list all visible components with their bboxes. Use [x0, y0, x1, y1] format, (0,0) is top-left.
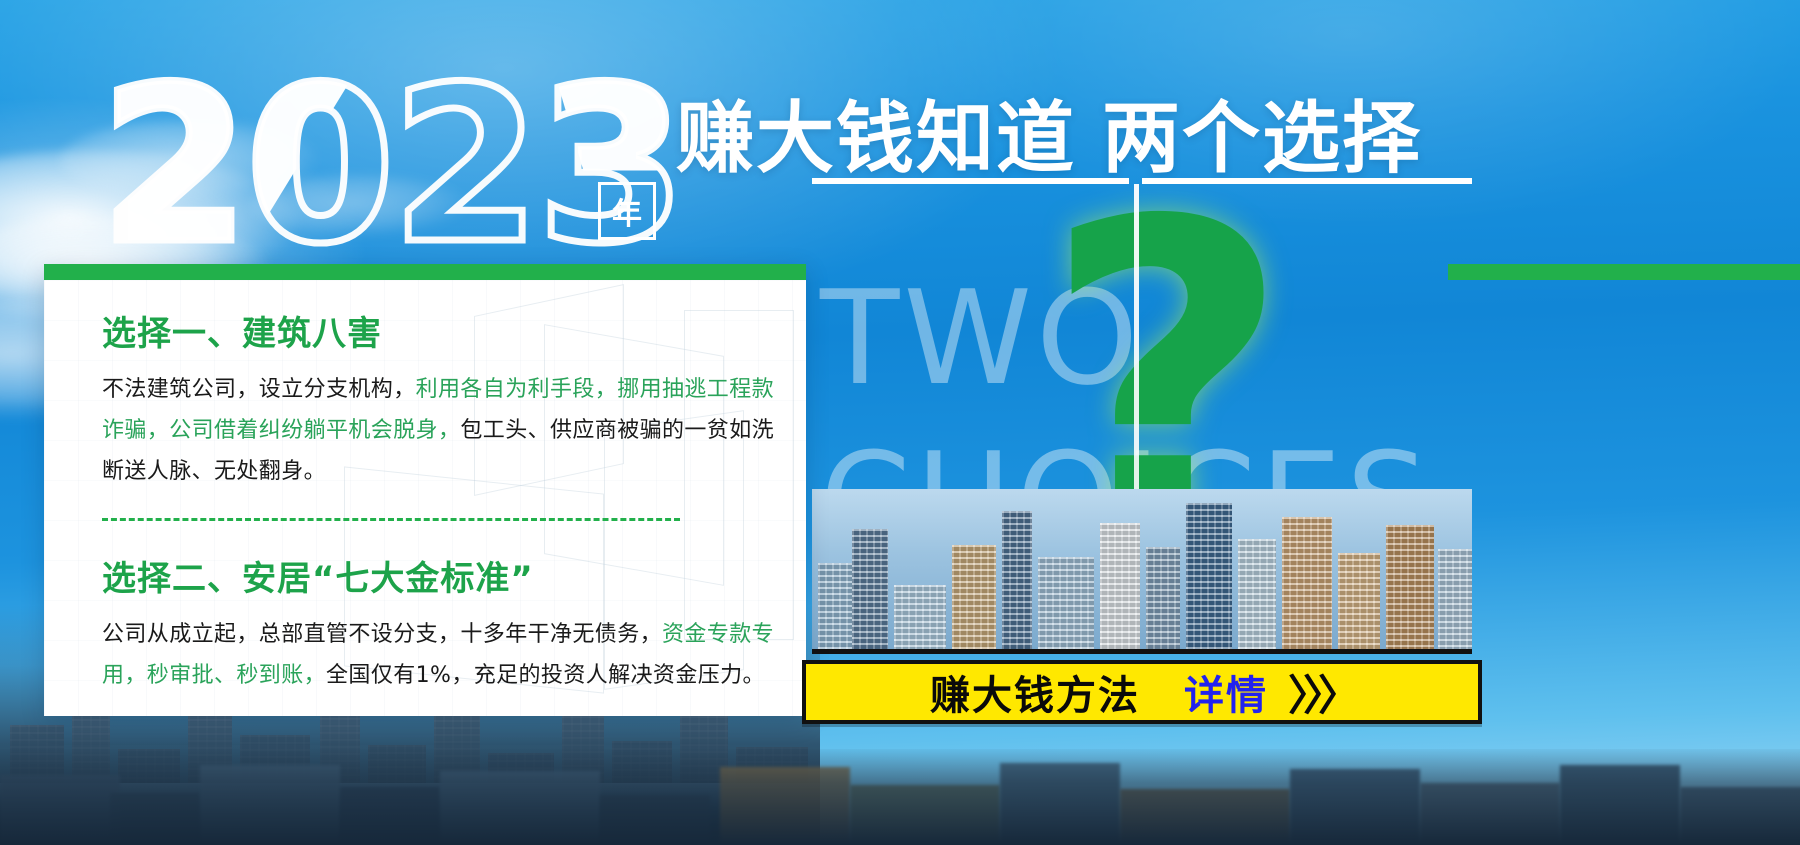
cta-detail-label: 详情: [1184, 663, 1268, 721]
s2-line2-green: 用，秒审批、秒到账，: [102, 663, 326, 688]
cta-main-label: 赚大钱方法: [930, 663, 1140, 721]
bottom-city-strip: [0, 749, 1800, 845]
content-card: 选择一、建筑八害 不法建筑公司，设立分支机构，利用各自为利手段，挪用抽逃工程款诈…: [44, 264, 806, 716]
chevron-right-icon: 〉〉〉: [1288, 662, 1354, 723]
section-divider: [102, 518, 680, 521]
right-visual-panel: TWO CHOICES ?: [812, 184, 1472, 654]
card-top-bar: [44, 264, 806, 280]
s1-line1-green: 利用各自为利手段，挪用抽逃工程款: [416, 377, 774, 402]
year-graphic: 2023 2023 2023: [100, 52, 720, 282]
s1-line2-black: 包工头、供应商被骗的一贫如洗: [460, 418, 774, 443]
green-accent-strip: [1448, 264, 1800, 280]
year-unit-badge: 年: [598, 182, 656, 240]
banner-root: 2023 2023 2023 年 赚大钱知道两个选择 TWO CHOICES ?: [0, 0, 1800, 845]
title-part-2: 两个选择: [1102, 94, 1422, 184]
section-1-paragraph: 不法建筑公司，设立分支机构，利用各自为利手段，挪用抽逃工程款诈骗，公司借着纠纷躺…: [102, 369, 782, 492]
s1-line2-green: 诈骗，公司借着纠纷躺平机会脱身，: [102, 418, 460, 443]
city-skyline-photo: [812, 489, 1472, 654]
s1-line3-black: 断送人脉、无处翻身。: [102, 459, 326, 484]
section-2-heading: 选择二、安居“七大金标准”: [102, 551, 778, 600]
section-1-heading: 选择一、建筑八害: [102, 306, 778, 355]
s2-line1-black: 公司从成立起，总部直管不设分支，十多年干净无债务，: [102, 622, 662, 647]
s2-line1-green: 资金专款专: [662, 622, 774, 647]
page-title: 赚大钱知道两个选择: [676, 76, 1422, 188]
s1-line1-black: 不法建筑公司，设立分支机构，: [102, 377, 416, 402]
title-part-1: 赚大钱知道: [676, 94, 1076, 184]
s2-line2-black: 全国仅有1%，充足的投资人解决资金压力。: [326, 663, 765, 688]
card-content: 选择一、建筑八害 不法建筑公司，设立分支机构，利用各自为利手段，挪用抽逃工程款诈…: [102, 306, 778, 696]
cta-button[interactable]: 赚大钱方法 详情 〉〉〉: [802, 660, 1482, 724]
section-2-paragraph: 公司从成立起，总部直管不设分支，十多年干净无债务，资金专款专用，秒审批、秒到账，…: [102, 614, 782, 696]
